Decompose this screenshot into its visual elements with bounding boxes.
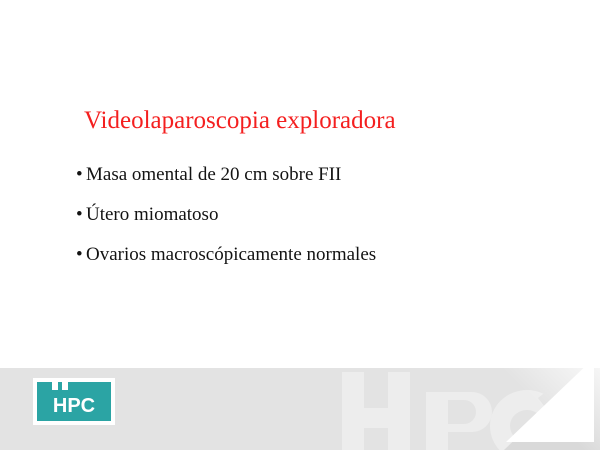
bullet-marker-icon: • xyxy=(76,204,83,226)
page-curl-gloss xyxy=(504,368,600,450)
watermark-h-crossbar xyxy=(342,408,410,428)
list-item: • Masa omental de 20 cm sobre FII xyxy=(76,164,546,186)
hpc-logo: HPC xyxy=(33,378,115,425)
hpc-logo-notch-left xyxy=(52,382,58,390)
watermark-h-notch-right xyxy=(378,372,388,394)
hpc-logo-notch-right xyxy=(62,382,68,390)
list-item-label: Ovarios macroscópicamente normales xyxy=(86,244,376,265)
bullet-list: • Masa omental de 20 cm sobre FII • Úter… xyxy=(76,164,546,284)
list-item-label: Útero miomatoso xyxy=(86,204,218,225)
list-item: • Ovarios macroscópicamente normales xyxy=(76,244,546,266)
bullet-marker-icon: • xyxy=(76,164,83,186)
presentation-slide: Videolaparoscopia exploradora • Masa ome… xyxy=(0,0,600,450)
page-curl-icon xyxy=(504,368,600,450)
slide-title: Videolaparoscopia exploradora xyxy=(84,106,396,136)
watermark-h-notch-left xyxy=(364,372,374,394)
watermark-p-counter xyxy=(448,400,476,424)
list-item-label: Masa omental de 20 cm sobre FII xyxy=(86,164,341,185)
hpc-logo-plate: HPC xyxy=(37,382,111,421)
bullet-marker-icon: • xyxy=(76,244,83,266)
hpc-logo-text: HPC xyxy=(37,390,111,421)
list-item: • Útero miomatoso xyxy=(76,204,546,226)
